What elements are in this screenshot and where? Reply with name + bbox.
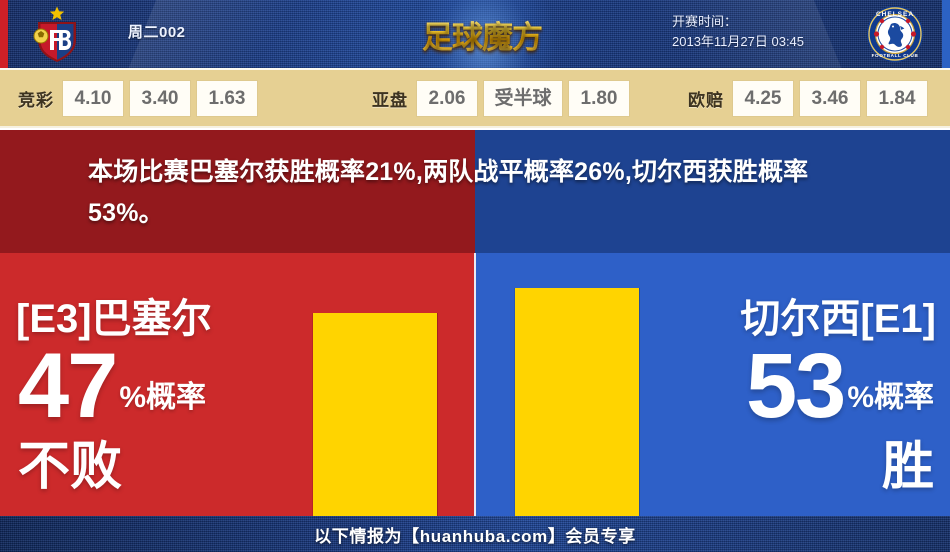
home-percent-number: 47: [18, 343, 116, 429]
odds-group-yapan: 亚盘 2.06 受半球 1.80: [372, 81, 629, 116]
svg-text:FOOTBALL CLUB: FOOTBALL CLUB: [872, 53, 919, 58]
kickoff-label: 开赛时间：: [672, 12, 804, 32]
odds-cell[interactable]: 4.10: [63, 81, 123, 116]
odds-cell[interactable]: 1.84: [867, 81, 927, 116]
odds-group-jingcai: 竞彩 4.10 3.40 1.63: [18, 81, 257, 116]
home-probability-bar: [313, 313, 437, 516]
odds-group-label: 欧赔: [688, 86, 724, 111]
brand-text: 足球魔方: [422, 12, 542, 57]
away-probability-bar: [515, 288, 639, 516]
panel-divider: [474, 253, 476, 516]
chelsea-crest-icon: CHELSEA FOOTBALL CLUB: [864, 4, 926, 64]
member-notice-footer: 以下情报为【huanhuba.com】会员专享: [0, 516, 950, 552]
odds-cell[interactable]: 1.80: [569, 81, 629, 116]
page-header: 周二002 足球魔方 开赛时间： 2013年11月27日 03:45: [0, 0, 950, 68]
odds-cell-handicap[interactable]: 受半球: [484, 81, 562, 116]
odds-group-label: 亚盘: [372, 86, 408, 111]
kickoff-time: 开赛时间： 2013年11月27日 03:45: [672, 12, 804, 52]
match-prediction-page: 周二002 足球魔方 开赛时间： 2013年11月27日 03:45: [0, 0, 950, 552]
home-percent-suffix: %概率: [116, 376, 206, 429]
member-notice-text: 以下情报为【huanhuba.com】会员专享: [314, 522, 636, 547]
odds-group-label: 竞彩: [18, 86, 54, 111]
away-probability-value: 53 %概率: [746, 343, 934, 429]
odds-cell[interactable]: 3.46: [800, 81, 860, 116]
site-brand-logo[interactable]: 足球魔方: [412, 12, 552, 56]
away-percent-number: 53: [746, 343, 844, 429]
match-number: 周二002: [128, 21, 186, 42]
odds-group-oupei: 欧赔 4.25 3.46 1.84: [688, 81, 927, 116]
away-verdict: 胜: [882, 438, 934, 496]
basel-crest-icon: [26, 4, 88, 64]
home-verdict: 不败: [18, 438, 122, 496]
odds-cell[interactable]: 1.63: [197, 81, 257, 116]
odds-cell[interactable]: 4.25: [733, 81, 793, 116]
odds-cell[interactable]: 2.06: [417, 81, 477, 116]
odds-bar: 竞彩 4.10 3.40 1.63 亚盘 2.06 受半球 1.80 欧赔 4.…: [0, 68, 950, 128]
away-percent-suffix: %概率: [844, 376, 934, 429]
probability-summary-text: 本场比赛巴塞尔获胜概率21%,两队战平概率26%,切尔西获胜概率53%。: [88, 152, 878, 234]
probability-chart: [E3]巴塞尔 47 %概率 不败 切尔西[E1] 53 %概率 胜: [0, 253, 950, 516]
svg-text:CHELSEA: CHELSEA: [876, 11, 914, 18]
kickoff-value: 2013年11月27日 03:45: [672, 32, 804, 52]
probability-banner: 本场比赛巴塞尔获胜概率21%,两队战平概率26%,切尔西获胜概率53%。: [0, 130, 950, 253]
odds-cell[interactable]: 3.40: [130, 81, 190, 116]
home-probability-value: 47 %概率: [18, 343, 206, 429]
